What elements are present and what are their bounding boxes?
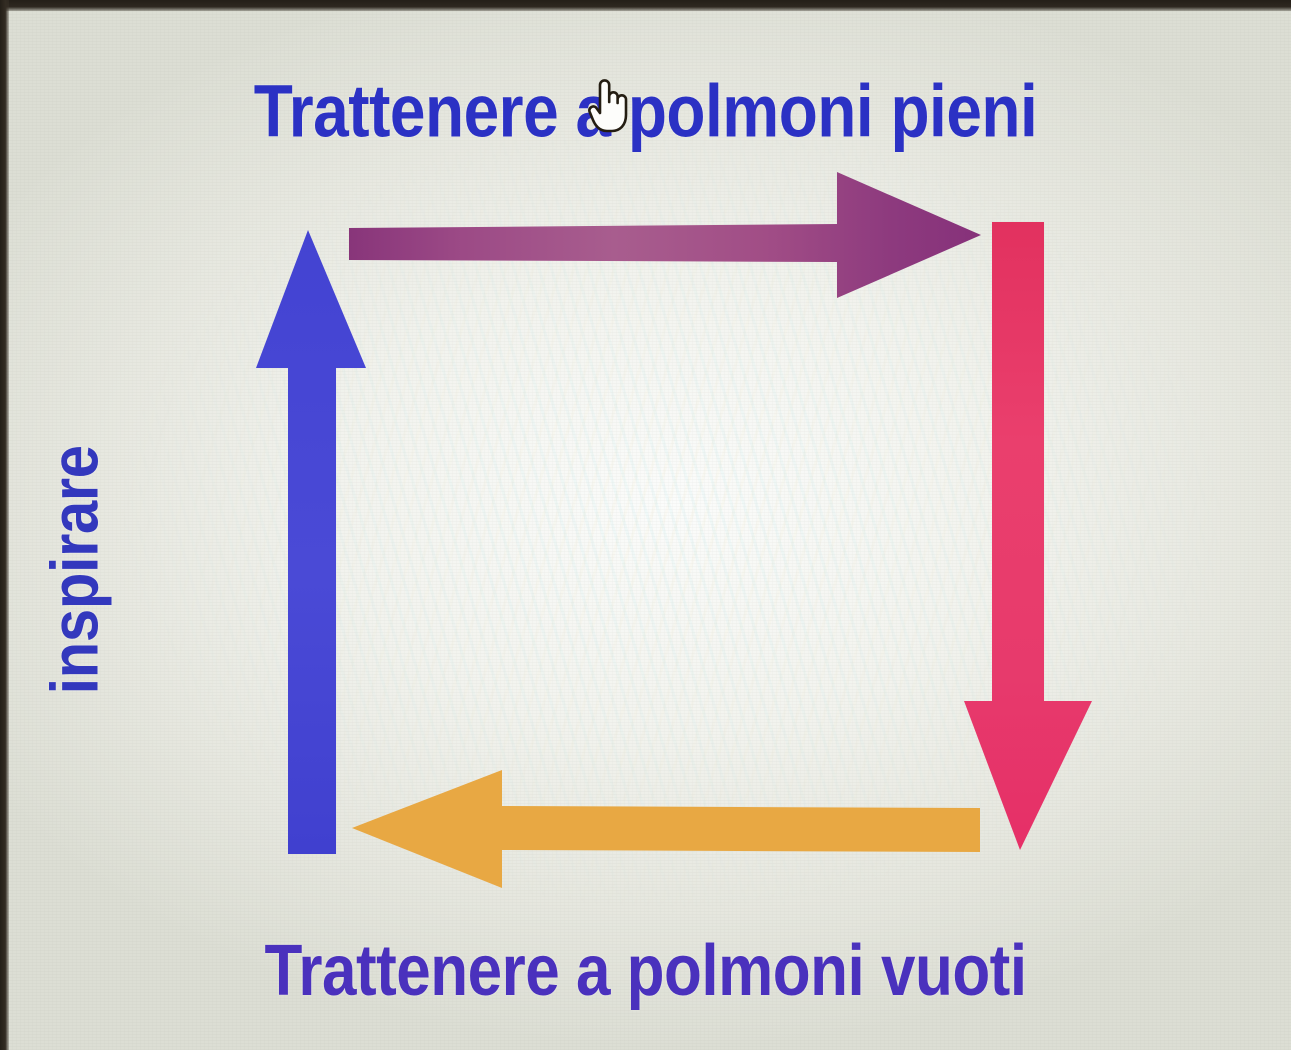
page-title-hold-full: Trattenere a polmoni pieni: [0, 74, 1291, 148]
label-inhale: inspirare: [41, 360, 108, 780]
pointing-hand-cursor-icon: [586, 76, 630, 134]
arrow-top-hold-full: [345, 168, 985, 302]
page-title-hold-empty: Trattenere a polmoni vuoti: [0, 936, 1291, 1008]
photo-edge-left: [0, 0, 9, 1050]
photo-edge-top: [0, 0, 1291, 11]
arrow-bottom-hold-empty: [340, 762, 990, 894]
arrow-left-inhale: [236, 218, 382, 866]
breathing-cycle-diagram: Trattenere a polmoni pieni Trattenere a …: [0, 0, 1291, 1050]
